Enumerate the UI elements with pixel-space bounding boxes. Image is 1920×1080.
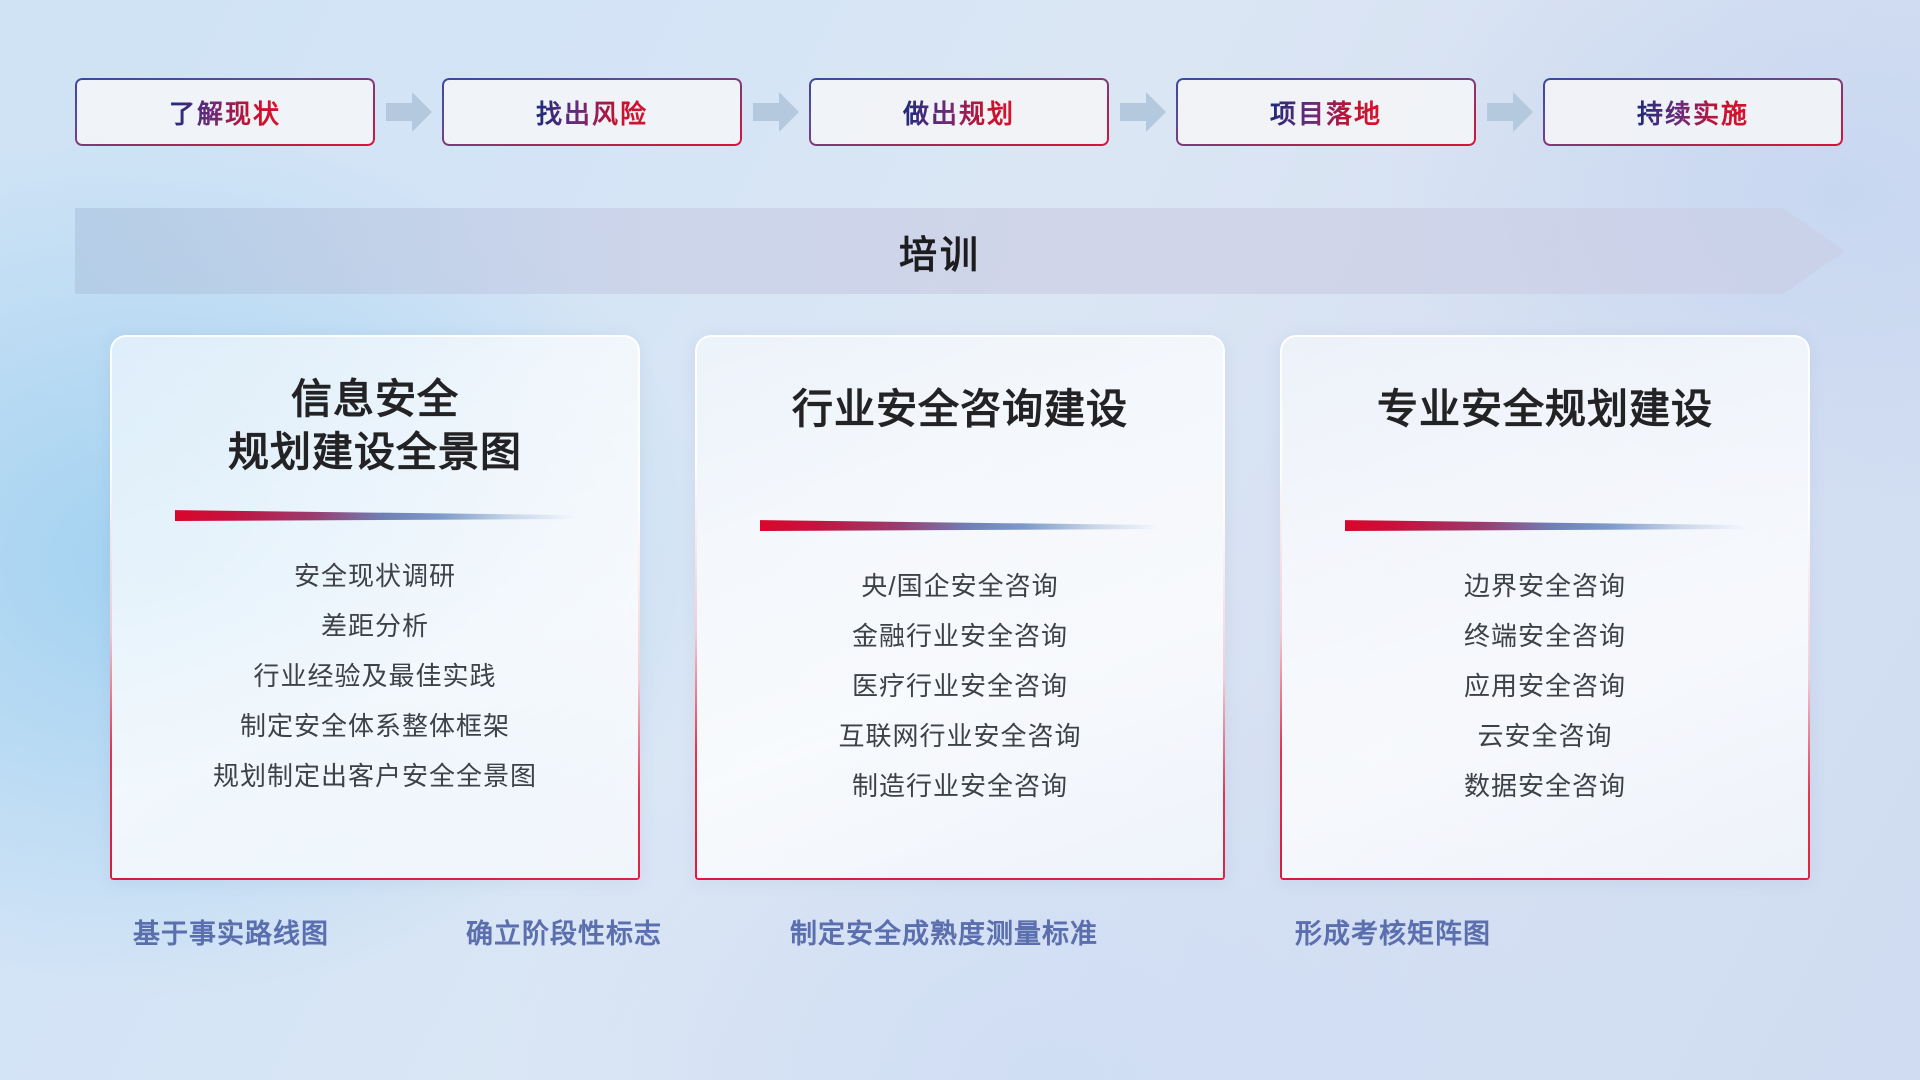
card-professional-security-planning[interactable]: 专业安全规划建设 边界安全咨询 终端安全咨询 应用安全咨询 云安全咨询 数据安全… [1280,335,1810,880]
outcome-label-4: 形成考核矩阵图 [1295,912,1491,951]
right-arrow-icon [1476,89,1543,135]
process-step-label: 持续实施 [1637,94,1749,131]
list-item: 差距分析 [110,601,640,651]
outcome-label-3: 制定安全成熟度测量标准 [790,912,1098,951]
process-step-label: 做出规划 [903,94,1015,131]
card-title: 信息安全 规划建设全景图 [110,373,640,483]
card-divider [760,515,1160,537]
list-item: 制定安全体系整体框架 [110,701,640,751]
training-banner: 培训 [75,208,1845,294]
right-arrow-icon [742,89,809,135]
card-title: 行业安全咨询建设 [695,383,1225,493]
slide-canvas: 了解现状 找出风险 做出规划 项目落地 [0,0,1920,1080]
card-title-line1: 信息安全 [138,373,612,426]
list-item: 金融行业安全咨询 [695,611,1225,661]
process-step-1[interactable]: 了解现状 [75,78,375,146]
process-step-label: 项目落地 [1270,94,1382,131]
list-item: 终端安全咨询 [1280,611,1810,661]
list-item: 应用安全咨询 [1280,661,1810,711]
card-row: 信息安全 规划建设全景图 安全现状调研 差距分析 行业经验及最佳实践 制定安全体… [110,335,1810,880]
list-item: 云安全咨询 [1280,711,1810,761]
list-item: 制造行业安全咨询 [695,761,1225,811]
card-title-line1: 专业安全规划建设 [1308,383,1782,436]
list-item: 互联网行业安全咨询 [695,711,1225,761]
list-item: 规划制定出客户安全全景图 [110,751,640,801]
right-arrow-icon [1109,89,1176,135]
right-arrow-icon [375,89,442,135]
card-item-list: 边界安全咨询 终端安全咨询 应用安全咨询 云安全咨询 数据安全咨询 [1280,561,1810,811]
card-divider [175,505,575,527]
card-item-list: 安全现状调研 差距分析 行业经验及最佳实践 制定安全体系整体框架 规划制定出客户… [110,551,640,801]
card-industry-security-consulting[interactable]: 行业安全咨询建设 央/国企安全咨询 金融行业安全咨询 医疗行业安全咨询 互联网行… [695,335,1225,880]
card-title-line2: 规划建设全景图 [138,426,612,479]
process-step-4[interactable]: 项目落地 [1176,78,1476,146]
card-item-list: 央/国企安全咨询 金融行业安全咨询 医疗行业安全咨询 互联网行业安全咨询 制造行… [695,561,1225,811]
card-title: 专业安全规划建设 [1280,383,1810,493]
list-item: 数据安全咨询 [1280,761,1810,811]
card-divider [1345,515,1745,537]
outcome-label-1: 基于事实路线图 [133,912,329,951]
list-item: 医疗行业安全咨询 [695,661,1225,711]
process-step-label: 找出风险 [536,94,648,131]
card-title-line1: 行业安全咨询建设 [723,383,1197,436]
list-item: 行业经验及最佳实践 [110,651,640,701]
card-information-security-panorama[interactable]: 信息安全 规划建设全景图 安全现状调研 差距分析 行业经验及最佳实践 制定安全体… [110,335,640,880]
list-item: 央/国企安全咨询 [695,561,1225,611]
outcome-label-2: 确立阶段性标志 [466,912,662,951]
list-item: 边界安全咨询 [1280,561,1810,611]
outcome-label-row: 基于事实路线图 确立阶段性标志 制定安全成熟度测量标准 形成考核矩阵图 [0,912,1920,960]
banner-title: 培训 [75,208,1845,294]
list-item: 安全现状调研 [110,551,640,601]
process-step-5[interactable]: 持续实施 [1543,78,1843,146]
process-step-label: 了解现状 [169,94,281,131]
process-step-row: 了解现状 找出风险 做出规划 项目落地 [75,78,1845,146]
process-step-2[interactable]: 找出风险 [442,78,742,146]
process-step-3[interactable]: 做出规划 [809,78,1109,146]
